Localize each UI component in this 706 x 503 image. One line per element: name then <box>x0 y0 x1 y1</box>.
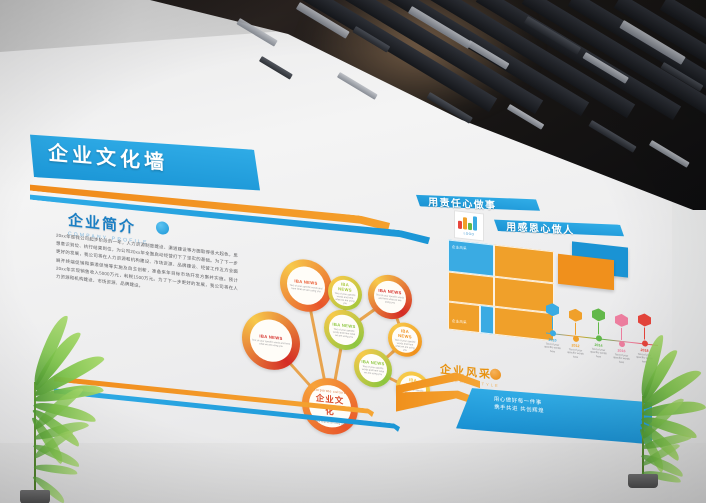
timeline-node: 2016Text of your specific words here <box>613 313 630 365</box>
node-dot <box>573 335 579 342</box>
node-stem <box>575 323 576 335</box>
hexagon-icon <box>569 308 582 322</box>
mindmap-node-inner: IBA NEWSText of your specific words and … <box>359 352 387 383</box>
company-logo: LOGO <box>454 210 484 241</box>
logo-bar <box>473 216 477 230</box>
mindmap-node: IBA NEWSText of your specific words and … <box>280 257 332 315</box>
mindmap-node: IBA NEWSText of your specific words and … <box>324 308 364 352</box>
node-stem <box>552 317 553 329</box>
mindmap-node-inner: IBA NEWSText of your specific words and … <box>287 264 325 307</box>
mindmap-node-inner: IBA NEWSText of your specific words and … <box>250 317 293 365</box>
mindmap-node-body: Text of your specific words and here wha… <box>361 365 385 377</box>
screenshot-root: 企业文化墙 企业简介 COMPANY PROFILE 20xx年是我公司起步阶段… <box>0 0 706 503</box>
node-stem <box>621 328 622 340</box>
mindmap-node-inner: IBA NEWSText of your specific words and … <box>374 279 407 315</box>
logo-bar <box>458 221 462 229</box>
node-dot <box>642 340 648 347</box>
node-text: Text of your specific words here <box>590 347 607 359</box>
node-stem <box>644 327 645 339</box>
hexagon-icon <box>546 302 559 316</box>
mindmap-node-body: Text of your specific words and here wha… <box>394 338 415 352</box>
mindmap-node-inner: IBA NEWSText of your specific words and … <box>392 326 417 354</box>
mindmap-node-inner: IBA NEWSText of your specific words and … <box>332 279 357 307</box>
headline-text-2: 用感恩心做人 <box>506 218 575 237</box>
mindmap-node-body: Text of your specific words and here wha… <box>252 338 291 348</box>
timeline-node: 2010Text of your specific words here <box>544 302 561 354</box>
mindmap-node: IBA NEWSText of your specific words and … <box>242 308 300 372</box>
node-stem <box>598 322 599 334</box>
hexagon-icon <box>592 308 605 322</box>
company-profile-body: 20xx年是我公司起步阶段的一年，人力资源制度建设、渠道建设等方面取得很大起色，… <box>56 232 238 302</box>
node-dot <box>550 330 556 337</box>
logo-bar <box>468 223 472 230</box>
mosaic-cell <box>480 305 494 335</box>
node-text: Text of your specific words here <box>613 353 630 365</box>
node-text: Text of your specific words here <box>636 353 653 365</box>
timeline-node: 2014Text of your specific words here <box>590 307 607 359</box>
photo-block <box>558 254 614 290</box>
logo-bars-icon <box>455 211 483 231</box>
blue-dot-icon <box>156 221 169 235</box>
node-dot <box>619 341 625 348</box>
headline-text-1: 用责任心做事 <box>428 193 497 212</box>
logo-bar <box>463 217 467 229</box>
hexagon-icon <box>615 313 628 327</box>
orange-dot-icon <box>490 368 501 380</box>
mindmap-node-body: Text of your specific words and here wha… <box>334 291 355 305</box>
timeline-node: 2018Text of your specific words here <box>636 313 653 365</box>
mindmap-node-body: Text of your specific words and here wha… <box>376 294 405 306</box>
mindmap-node-inner: IBA NEWSText of your specific words and … <box>329 313 359 346</box>
hexagon-icon <box>638 313 651 327</box>
milestone-timeline: 2010Text of your specific words here2012… <box>544 288 662 373</box>
bottom-blue-panel <box>456 380 652 450</box>
mindmap-node: IBA NEWSText of your specific words and … <box>354 347 392 389</box>
mindmap-node: IBA NEWSText of your specific words and … <box>328 274 362 312</box>
node-text: Text of your specific words here <box>567 348 584 360</box>
node-dot <box>596 335 602 342</box>
logo-caption: LOGO <box>455 230 483 237</box>
node-text: Text of your specific words here <box>544 342 561 354</box>
mindmap-node-body: Text of your specific words and here wha… <box>331 327 357 339</box>
mindmap-node-body: Text of your specific words and here wha… <box>289 284 323 294</box>
mindmap-node: IBA NEWSText of your specific words and … <box>368 273 412 322</box>
timeline-node: 2012Text of your specific words here <box>567 308 584 360</box>
culture-mindmap: IBA NEWSText of your specific words and … <box>242 252 454 466</box>
